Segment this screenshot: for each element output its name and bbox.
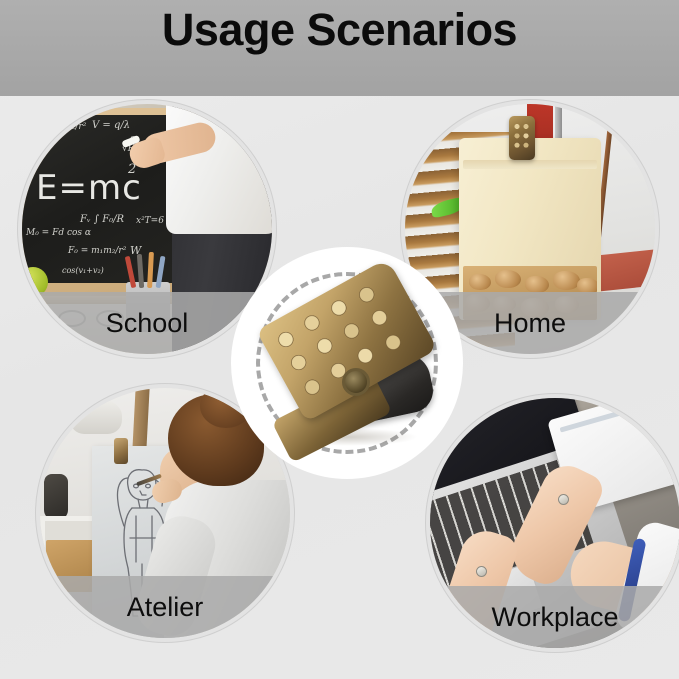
chalk-line-7: M₀ = Fd cos α: [26, 229, 91, 238]
studio-lamp: [70, 398, 122, 434]
dark-vase: [44, 474, 68, 520]
pouch-seal: [463, 160, 597, 169]
chalk-line-6: x²T=6: [136, 217, 164, 226]
chalk-line-2: V = q/λ: [92, 121, 130, 131]
product-clip-on-canvas: [114, 438, 128, 464]
product-clip-on-pouch: [509, 116, 535, 160]
scene-card-atelier[interactable]: Atelier: [40, 388, 290, 638]
chalk-line-8: F₀ = m₁m₂/r²: [68, 247, 126, 256]
chalk-line-5: Fᵥ ∫ F₀/R: [80, 215, 124, 225]
infographic-canvas: Usage Scenarios F₀ = m₁m₂/r² V = q/λ c √…: [0, 0, 679, 679]
scene-label-school: School: [22, 292, 272, 354]
scene-card-school[interactable]: F₀ = m₁m₂/r² V = q/λ c √E₀μr E=mc 2 Fᵥ ∫…: [22, 104, 272, 354]
scene-label-atelier: Atelier: [40, 576, 290, 638]
page-title: Usage Scenarios: [0, 4, 679, 56]
center-product-circle[interactable]: [238, 254, 456, 472]
clip-pivot-hinge: [342, 368, 370, 396]
scene-label-workplace: Workplace: [430, 586, 679, 648]
chalk-line-1: F₀ = m₁m₂/r²: [28, 123, 86, 132]
chalk-line-10: cos(v₁+v₂): [62, 267, 104, 275]
product-clip-image: [256, 282, 438, 447]
scene-card-workplace[interactable]: Workplace: [430, 398, 679, 648]
chalk-headline: E=mc: [36, 171, 142, 205]
ring-left-hand: [476, 566, 487, 577]
teacher-shirt: [166, 104, 272, 234]
ring-right-hand: [558, 494, 569, 505]
